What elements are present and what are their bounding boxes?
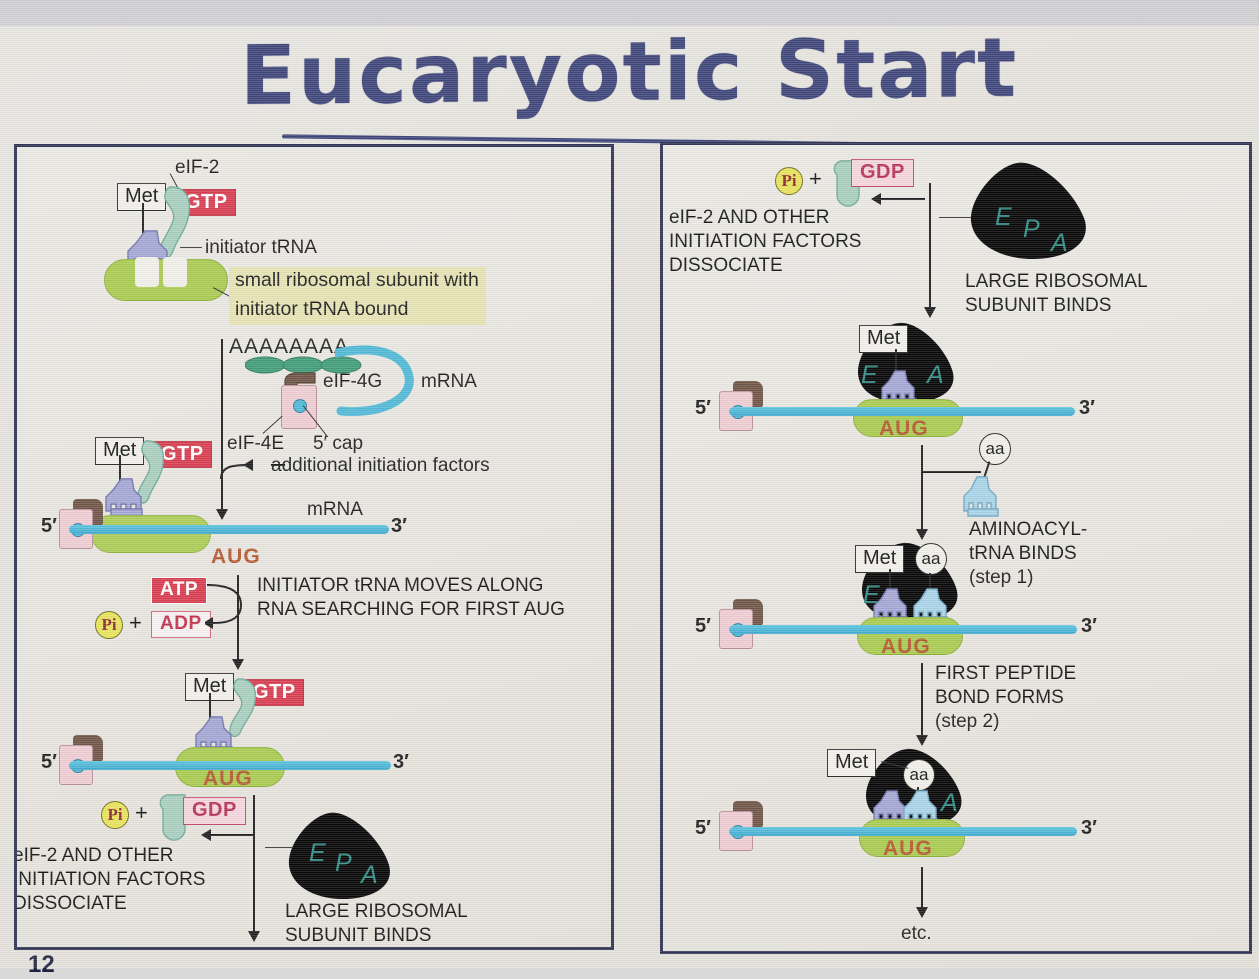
right-step3-vline bbox=[921, 445, 923, 533]
five-prime-cap-label: 5′ cap bbox=[313, 433, 363, 454]
adp-box: ADP bbox=[151, 611, 211, 638]
three-prime-step5-right: 3′ bbox=[1081, 817, 1097, 840]
gdp-box: GDP bbox=[183, 797, 246, 825]
e-site-step4: E bbox=[863, 581, 880, 610]
etc-arrowhead bbox=[916, 907, 928, 918]
callout-line-2: initiator tRNA bound bbox=[229, 296, 486, 325]
scanning-caption-line2: RNA SEARCHING FOR FIRST AUG bbox=[257, 599, 565, 621]
eif4g-label: eIF-4G bbox=[323, 371, 382, 392]
atp-box: ATP bbox=[151, 577, 207, 604]
gdp-release-arrow-right bbox=[867, 193, 929, 217]
large-subunit-leader-left bbox=[265, 847, 293, 848]
page-title-wrapper: Eucaryotic Start bbox=[0, 32, 1259, 114]
three-prime-step3: 3′ bbox=[391, 515, 407, 538]
peptide-caption-line1: FIRST PEPTIDE bbox=[935, 663, 1076, 685]
right-diagram-panel: Pi + GDP eIF-2 AND OTHER INITIATION FACT… bbox=[660, 142, 1252, 954]
plus-sign-step4: + bbox=[129, 610, 142, 636]
dissociate-line2-right: INITIATION FACTORS bbox=[669, 231, 861, 253]
aminoacyl-caption-line1: AMINOACYL- bbox=[969, 519, 1087, 541]
right-step3-arrowhead bbox=[916, 529, 928, 540]
three-prime-right-step2: 3′ bbox=[1079, 397, 1095, 420]
plus-sign-step6: + bbox=[135, 800, 148, 826]
aa-circle-step3: aa bbox=[979, 433, 1011, 465]
subunit-notch-right bbox=[163, 257, 187, 287]
plus-sign-right: + bbox=[809, 166, 822, 192]
aminoacyl-caption-step: (step 1) bbox=[969, 567, 1033, 588]
aminoacyl-branch-line bbox=[921, 471, 981, 473]
page-number: 12 bbox=[28, 951, 55, 979]
dissociate-line1-right: eIF-2 AND OTHER bbox=[669, 207, 829, 229]
aa-circle-step4: aa bbox=[915, 543, 947, 575]
five-prime-step4: 5′ bbox=[695, 615, 711, 638]
step6-arrowhead bbox=[248, 931, 260, 942]
p-site-left: P bbox=[335, 849, 352, 878]
large-subunit-binds-line2-left: SUBUNIT BINDS bbox=[285, 925, 431, 947]
five-prime-step3: 5′ bbox=[41, 515, 57, 538]
e-site-step2: E bbox=[861, 361, 878, 390]
etc-label: etc. bbox=[901, 923, 932, 944]
mrna-strand-step5-right bbox=[729, 827, 1077, 836]
large-ribosomal-subunit-right bbox=[967, 159, 1093, 265]
five-prime-right-step2: 5′ bbox=[695, 397, 711, 420]
callout-line-1: small ribosomal subunit with bbox=[229, 267, 486, 296]
aminoacyl-caption-line2: tRNA BINDS bbox=[969, 543, 1077, 565]
e-site-right: E bbox=[995, 203, 1012, 232]
step4-arrowhead bbox=[232, 659, 244, 670]
pi-circle-step4: Pi bbox=[95, 611, 123, 639]
a-site-left: A bbox=[361, 861, 378, 890]
etc-vline bbox=[921, 867, 923, 911]
mrna-strand-right-step2 bbox=[729, 407, 1075, 416]
peptide-bond-vline bbox=[921, 663, 923, 739]
aug-codon-step5: AUG bbox=[203, 767, 253, 791]
mrna-label-step2: mRNA bbox=[421, 371, 477, 392]
three-prime-step5: 3′ bbox=[393, 751, 409, 774]
atp-to-adp-arrow bbox=[205, 579, 249, 631]
met-box-right-step2: Met bbox=[859, 325, 908, 353]
aug-codon-right-step2: AUG bbox=[879, 417, 929, 441]
met-box-step4: Met bbox=[855, 545, 904, 573]
initiator-trna-step3 bbox=[101, 477, 153, 519]
photographed-screen: Eucaryotic Start eIF-2 Met GTP initiator… bbox=[0, 0, 1259, 968]
left-diagram-panel: eIF-2 Met GTP initiator tRNA bbox=[14, 144, 614, 950]
dissociate-line3: DISSOCIATE bbox=[14, 893, 127, 915]
a-site-step5: A bbox=[941, 789, 958, 818]
dissociate-line2: INITIATION FACTORS bbox=[14, 869, 205, 891]
five-prime-step5: 5′ bbox=[41, 751, 57, 774]
step2-to-step3-arrowhead bbox=[216, 509, 228, 520]
dissociate-line1: eIF-2 AND OTHER bbox=[14, 845, 173, 867]
aug-codon-step3: AUG bbox=[211, 545, 261, 569]
aminoacyl-trna-icon bbox=[959, 475, 1007, 519]
large-subunit-binds-line1-left: LARGE RIBOSOMAL bbox=[285, 901, 468, 923]
pi-circle-right: Pi bbox=[775, 167, 803, 195]
aa-circle-step5: aa bbox=[903, 759, 935, 791]
pi-circle-step6: Pi bbox=[101, 801, 129, 829]
three-prime-step4: 3′ bbox=[1081, 615, 1097, 638]
peptide-bond-arrowhead bbox=[916, 735, 928, 746]
subunit-notch-left bbox=[135, 257, 159, 287]
small-subunit-callout: small ribosomal subunit with initiator t… bbox=[229, 267, 486, 325]
scanning-caption-line1: INITIATOR tRNA MOVES ALONG bbox=[257, 575, 543, 597]
right-step1-vline bbox=[929, 183, 931, 311]
gdp-box-right: GDP bbox=[851, 159, 914, 187]
gdp-release-arrow bbox=[197, 829, 259, 853]
a-site-right: A bbox=[1051, 229, 1068, 258]
initiator-trna-label: initiator tRNA bbox=[205, 237, 317, 258]
peptide-caption-step: (step 2) bbox=[935, 711, 999, 732]
large-subunit-binds-line1-right: LARGE RIBOSOMAL bbox=[965, 271, 1148, 293]
mrna-label-step3: mRNA bbox=[307, 499, 363, 520]
eif4e-leader bbox=[263, 416, 283, 434]
p-site-right: P bbox=[1023, 215, 1040, 244]
aug-codon-step5-right: AUG bbox=[883, 837, 933, 861]
step2-bracket-vline bbox=[221, 339, 223, 459]
large-subunit-leader-right bbox=[939, 217, 971, 218]
step6-vline bbox=[253, 795, 255, 935]
met-box-step5-right: Met bbox=[827, 749, 876, 777]
slide-canvas: Eucaryotic Start eIF-2 Met GTP initiator… bbox=[0, 26, 1259, 968]
page-title: Eucaryotic Start bbox=[240, 28, 1018, 118]
aug-codon-step4: AUG bbox=[881, 635, 931, 659]
additional-factors-label: additional initiation factors bbox=[271, 455, 490, 476]
small-subunit-step3 bbox=[91, 515, 211, 553]
mrna-strand-step4 bbox=[729, 625, 1077, 634]
a-site-step2: A bbox=[927, 361, 944, 390]
initiator-trna-leader bbox=[180, 247, 202, 248]
e-site-left: E bbox=[309, 839, 326, 868]
peptide-caption-line2: BOND FORMS bbox=[935, 687, 1064, 709]
step2-to-step3-line bbox=[221, 459, 223, 511]
five-prime-step5-right: 5′ bbox=[695, 817, 711, 840]
large-subunit-binds-line2-right: SUBUNIT BINDS bbox=[965, 295, 1111, 317]
right-step1-arrowhead bbox=[924, 307, 936, 318]
eif2-label: eIF-2 bbox=[175, 157, 219, 178]
mrna-strand-step3 bbox=[69, 525, 389, 534]
dissociate-line3-right: DISSOCIATE bbox=[669, 255, 783, 277]
